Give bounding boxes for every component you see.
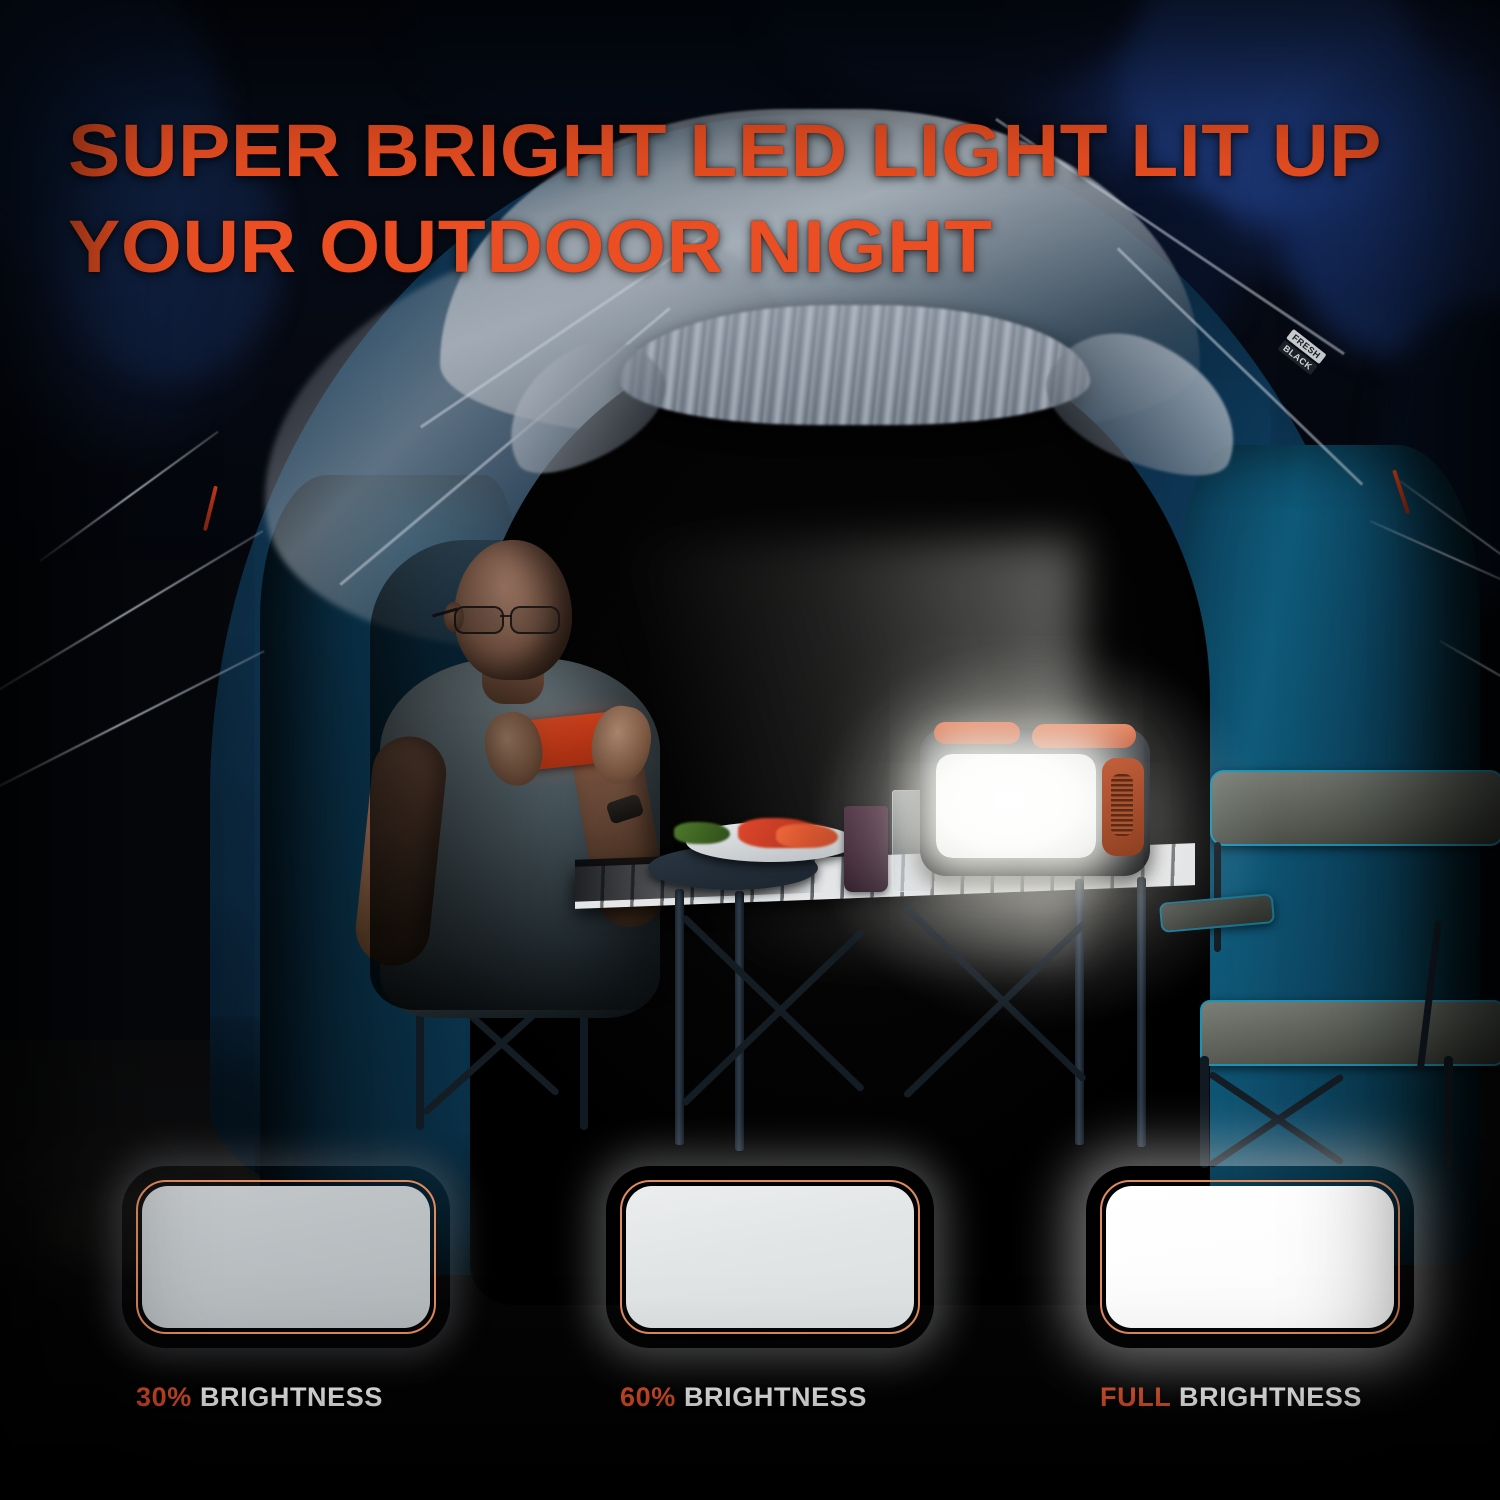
- lantern-side-grille: [1102, 758, 1144, 856]
- headline-line-2: YOUR OUTDOOR NIGHT: [68, 210, 1500, 284]
- page-title: SUPER BRIGHT LED LIGHT LIT UP YOUR OUTDO…: [68, 40, 1500, 358]
- food-cucumber: [674, 822, 730, 844]
- drink-cup: [844, 806, 888, 892]
- brightness-word-60: BRIGHTNESS: [684, 1382, 867, 1412]
- brightness-swatch-60[interactable]: [620, 1180, 920, 1334]
- brightness-label-60: 60% BRIGHTNESS: [620, 1382, 930, 1413]
- camping-chair-right: [1200, 770, 1500, 1170]
- headline-line-1: SUPER BRIGHT LED LIGHT LIT UP: [68, 109, 1382, 192]
- brightness-label-30: 30% BRIGHTNESS: [136, 1382, 446, 1413]
- chair-backrest: [1210, 770, 1500, 846]
- brightness-percent-full: FULL: [1100, 1382, 1171, 1412]
- brightness-swatch-fill-full: [1106, 1186, 1394, 1328]
- product-lifestyle-banner: FRESH BLACK: [0, 0, 1500, 1500]
- brightness-label-full: FULL BRIGHTNESS: [1100, 1382, 1410, 1413]
- folding-camp-table: [575, 855, 1195, 1175]
- brightness-swatch-30[interactable]: [136, 1180, 436, 1334]
- brightness-percent-60: 60%: [620, 1382, 676, 1412]
- chair-seat: [1200, 1000, 1500, 1066]
- brightness-level-row: 30% BRIGHTNESS 60% BRIGHTNESS FULL BRIGH…: [0, 1180, 1500, 1410]
- led-lantern-product: [920, 718, 1150, 876]
- eyeglasses: [448, 606, 578, 632]
- brightness-swatch-full[interactable]: [1100, 1180, 1400, 1334]
- brightness-word-30: BRIGHTNESS: [200, 1382, 383, 1412]
- brightness-word-full: BRIGHTNESS: [1179, 1382, 1362, 1412]
- food-pepper: [776, 824, 838, 848]
- lantern-led-panel: [936, 754, 1096, 858]
- lantern-top-accent-right: [1031, 724, 1136, 748]
- brightness-percent-30: 30%: [136, 1382, 192, 1412]
- brightness-swatch-fill-30: [142, 1186, 430, 1328]
- brightness-option-60[interactable]: 60% BRIGHTNESS: [620, 1180, 930, 1413]
- lantern-top-accent-left: [934, 722, 1020, 744]
- brightness-option-30[interactable]: 30% BRIGHTNESS: [136, 1180, 446, 1413]
- brightness-swatch-fill-60: [626, 1186, 914, 1328]
- brightness-option-full[interactable]: FULL BRIGHTNESS: [1100, 1180, 1410, 1413]
